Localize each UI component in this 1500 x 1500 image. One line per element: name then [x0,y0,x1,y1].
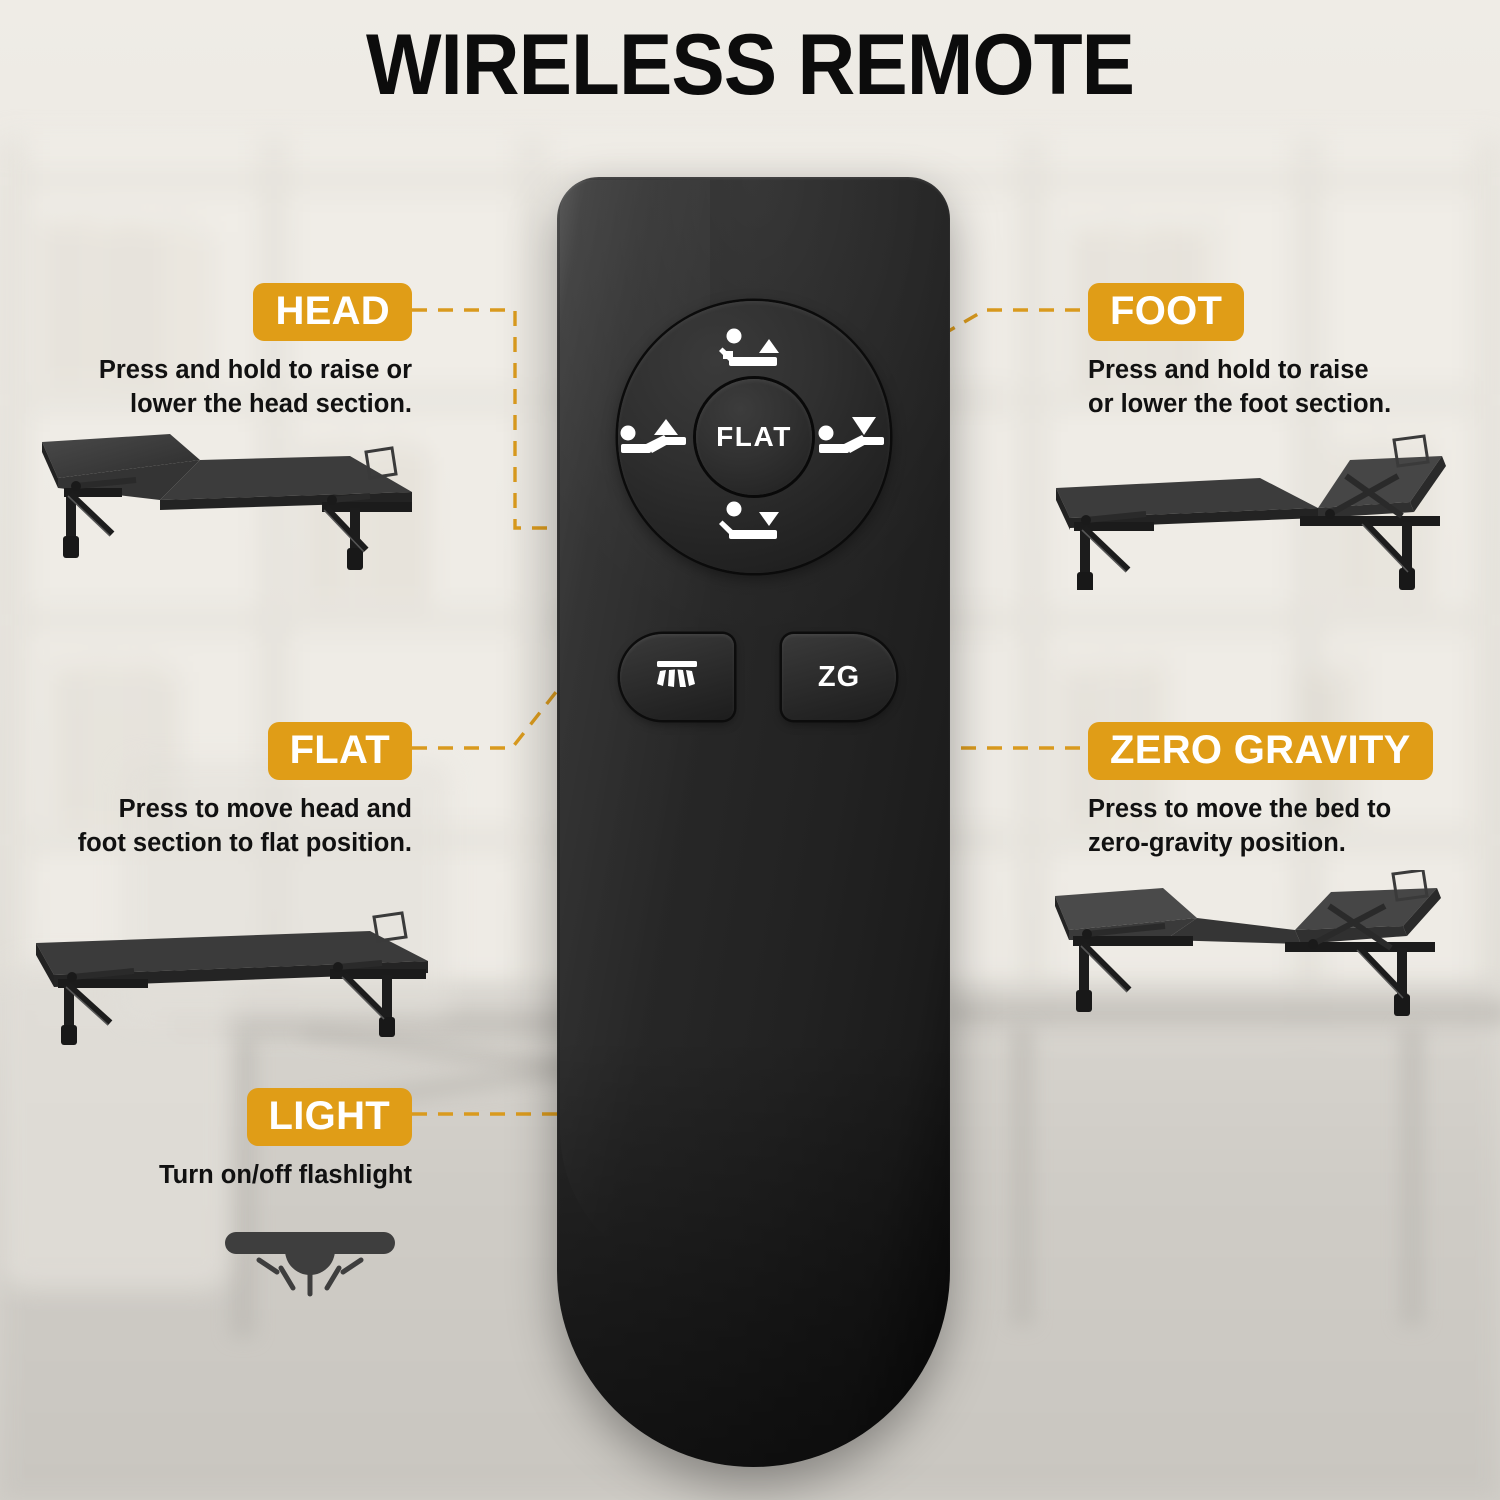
page-title: WIRELESS REMOTE [53,22,1448,108]
flashlight-illustration-icon [215,1220,405,1340]
description-foot: Press and hold to raise or lower the foo… [1088,354,1500,420]
callout-zero-gravity: ZERO GRAVITY Press to move the bed to ze… [1088,722,1500,860]
bed-foot-raised-image [1050,430,1460,590]
callout-light: LIGHT Turn on/off flashlight [0,1088,412,1193]
light-button[interactable] [620,634,734,720]
person-bed-head-down-icon[interactable] [717,500,791,548]
bed-zero-gravity-image [1045,870,1465,1025]
infographic-canvas: WIRELESS REMOTE HEAD Press and hold to r… [0,0,1500,1500]
zg-button-label: ZG [818,661,860,694]
bed-head-raised-image [40,430,440,590]
person-bed-head-up-icon[interactable] [717,327,791,375]
callout-foot: FOOT Press and hold to raise or lower th… [1088,283,1500,421]
description-head: Press and hold to raise or lower the hea… [0,354,412,420]
flat-button[interactable]: FLAT [696,379,812,495]
zero-gravity-button[interactable]: ZG [782,634,896,720]
badge-head: HEAD [253,283,412,341]
description-light: Turn on/off flashlight [0,1159,412,1192]
person-bed-foot-up-icon[interactable] [618,413,692,461]
callout-flat: FLAT Press to move head and foot section… [0,722,412,860]
flashlight-icon [651,655,703,699]
badge-foot: FOOT [1088,283,1244,341]
badge-zero-gravity: ZERO GRAVITY [1088,722,1433,780]
description-zero-gravity: Press to move the bed to zero-gravity po… [1088,793,1500,859]
badge-light: LIGHT [247,1088,412,1146]
callout-head: HEAD Press and hold to raise or lower th… [0,283,412,421]
flat-button-label: FLAT [716,421,792,453]
person-bed-foot-down-icon[interactable] [816,413,890,461]
table-leg-blur [1400,1026,1424,1326]
remote-bottom-shadow [557,1037,950,1467]
badge-flat: FLAT [268,722,412,780]
description-flat: Press to move head and foot section to f… [0,793,412,859]
bed-flat-image [30,895,440,1045]
table-leg-blur [1010,1026,1034,1326]
